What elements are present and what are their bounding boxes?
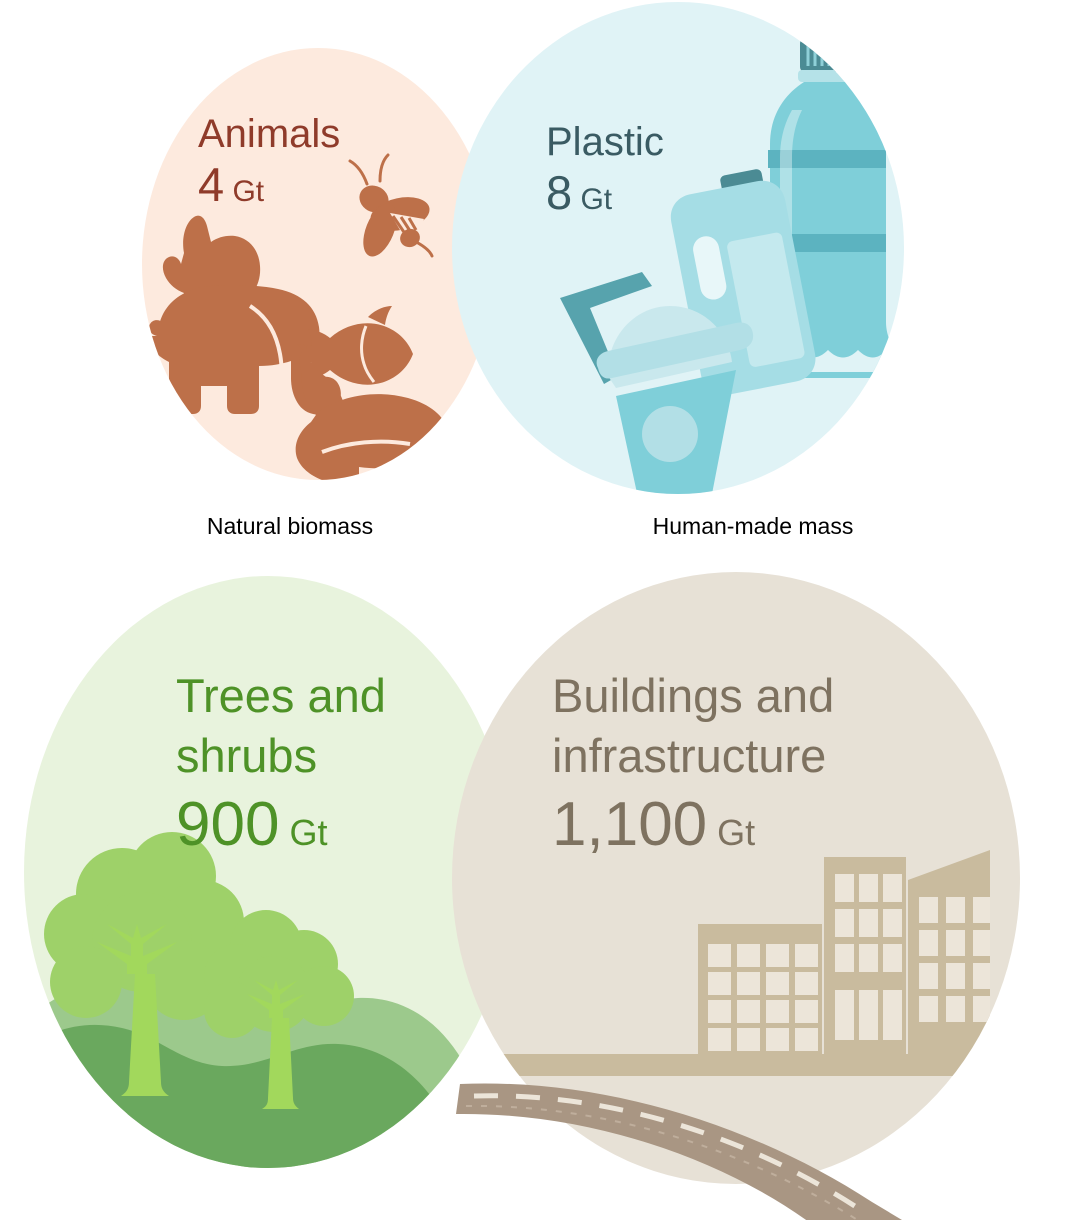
animals-value: 4 bbox=[198, 158, 224, 211]
plastic-value-line: 8 Gt bbox=[546, 167, 664, 220]
trees-title: Trees and shrubs bbox=[176, 666, 386, 786]
buildings-unit: Gt bbox=[707, 812, 755, 853]
bubble-buildings bbox=[452, 572, 1020, 1184]
trees-value: 900 bbox=[176, 790, 279, 859]
bubble-trees bbox=[24, 576, 512, 1168]
buildings-value-line: 1,100 Gt bbox=[552, 790, 834, 859]
bubble-plastic bbox=[452, 2, 904, 494]
trees-unit: Gt bbox=[279, 812, 327, 853]
caption-human-made-mass: Human-made mass bbox=[628, 513, 878, 540]
plastic-title: Plastic bbox=[546, 120, 664, 165]
caption-natural-biomass: Natural biomass bbox=[190, 513, 390, 540]
buildings-title: Buildings and infrastructure bbox=[552, 666, 834, 786]
plastic-unit: Gt bbox=[572, 183, 612, 216]
buildings-label-group: Buildings and infrastructure 1,100 Gt bbox=[552, 666, 834, 860]
animals-title: Animals bbox=[198, 112, 340, 157]
animals-unit: Gt bbox=[224, 175, 264, 208]
animals-value-line: 4 Gt bbox=[198, 159, 340, 212]
buildings-value: 1,100 bbox=[552, 790, 707, 859]
trees-value-line: 900 Gt bbox=[176, 790, 386, 859]
plastic-value: 8 bbox=[546, 166, 572, 219]
plastic-label-group: Plastic 8 Gt bbox=[546, 120, 664, 219]
trees-label-group: Trees and shrubs 900 Gt bbox=[176, 666, 386, 860]
animals-label-group: Animals 4 Gt bbox=[198, 112, 340, 211]
infographic-canvas: Animals 4 Gt bbox=[0, 0, 1078, 1220]
